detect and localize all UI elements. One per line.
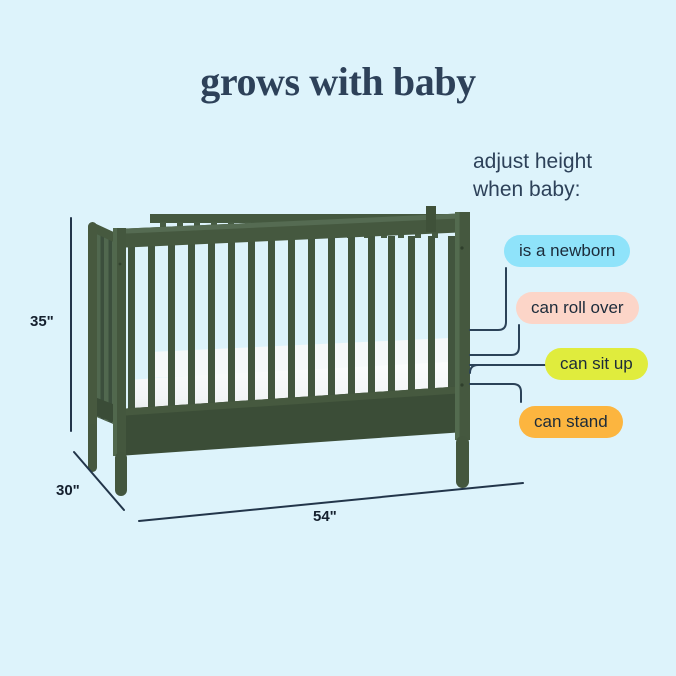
adjust-height-heading: adjust height when baby:	[473, 148, 592, 204]
callout-pill-label: can sit up	[560, 354, 633, 374]
connector-sit-up	[470, 365, 545, 373]
callout-pill-label: can roll over	[531, 298, 624, 318]
callout-pill-roll-over[interactable]: can roll over	[516, 292, 639, 324]
crib-illustration	[0, 0, 676, 676]
dimension-label-width: 54"	[313, 508, 337, 525]
callout-pill-label: is a newborn	[519, 241, 615, 261]
crib-back-right-post	[426, 206, 436, 232]
callout-connectors	[470, 268, 545, 402]
dimension-label-depth: 30"	[56, 482, 80, 499]
callout-pill-label: can stand	[534, 412, 608, 432]
infographic-page: grows with baby	[0, 0, 676, 676]
connector-newborn	[470, 268, 506, 330]
callout-pill-stand[interactable]: can stand	[519, 406, 623, 438]
callout-pill-newborn[interactable]: is a newborn	[504, 235, 630, 267]
connector-stand	[470, 384, 521, 402]
callout-pill-sit-up[interactable]: can sit up	[545, 348, 648, 380]
dimension-label-height: 35"	[30, 313, 54, 330]
